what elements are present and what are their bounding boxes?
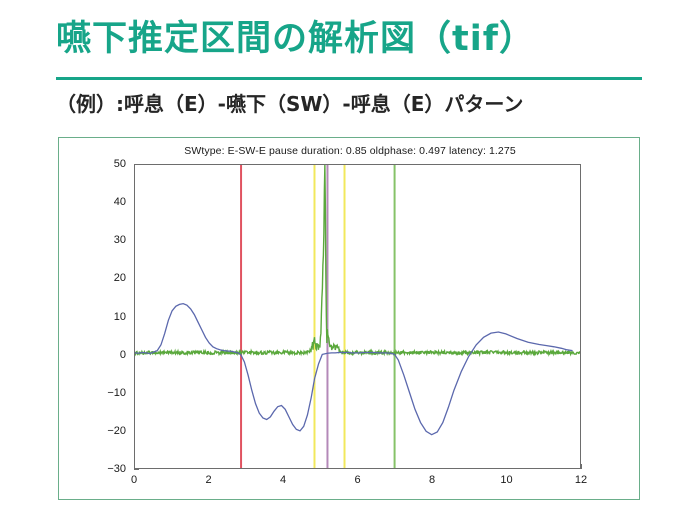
green-marker xyxy=(394,165,396,468)
y-tick-mark xyxy=(134,469,139,470)
y-tick-label: 40 xyxy=(98,196,126,208)
x-tick-label: 0 xyxy=(122,474,146,486)
y-tick-label: 10 xyxy=(98,311,126,323)
x-tick-mark xyxy=(581,464,582,469)
y-tick-label: −20 xyxy=(98,425,126,437)
trace-swallow-emg xyxy=(135,165,580,354)
page-subtitle: （例）:呼息（E）-嚥下（SW）-呼息（E）パターン xyxy=(56,88,523,120)
x-tick-label: 2 xyxy=(197,474,221,486)
y-tick-label: 20 xyxy=(98,272,126,284)
y-tick-label: −10 xyxy=(98,387,126,399)
trace-respiration xyxy=(135,304,573,435)
chart-title: SWtype: E-SW-E pause duration: 0.85 oldp… xyxy=(59,145,641,157)
y-tick-label: 50 xyxy=(98,158,126,170)
x-tick-label: 6 xyxy=(346,474,370,486)
plot-axes xyxy=(134,164,581,469)
x-tick-label: 8 xyxy=(420,474,444,486)
x-tick-label: 4 xyxy=(271,474,295,486)
plot-traces xyxy=(135,165,580,468)
y-tick-label: 30 xyxy=(98,234,126,246)
title-divider xyxy=(56,77,642,80)
figure-frame: SWtype: E-SW-E pause duration: 0.85 oldp… xyxy=(58,137,640,500)
red-marker xyxy=(240,165,242,468)
x-tick-label: 10 xyxy=(495,474,519,486)
page-title: 嚥下推定区間の解析図（tif） xyxy=(56,16,535,62)
yellow-marker-end xyxy=(344,165,346,468)
y-tick-label: 0 xyxy=(98,349,126,361)
slide-root: 嚥下推定区間の解析図（tif） （例）:呼息（E）-嚥下（SW）-呼息（E）パタ… xyxy=(0,0,700,525)
plot-container: SWtype: E-SW-E pause duration: 0.85 oldp… xyxy=(59,138,641,501)
x-tick-label: 12 xyxy=(569,474,593,486)
vertical-marker-lines xyxy=(240,165,396,468)
yellow-marker-start xyxy=(313,165,315,468)
